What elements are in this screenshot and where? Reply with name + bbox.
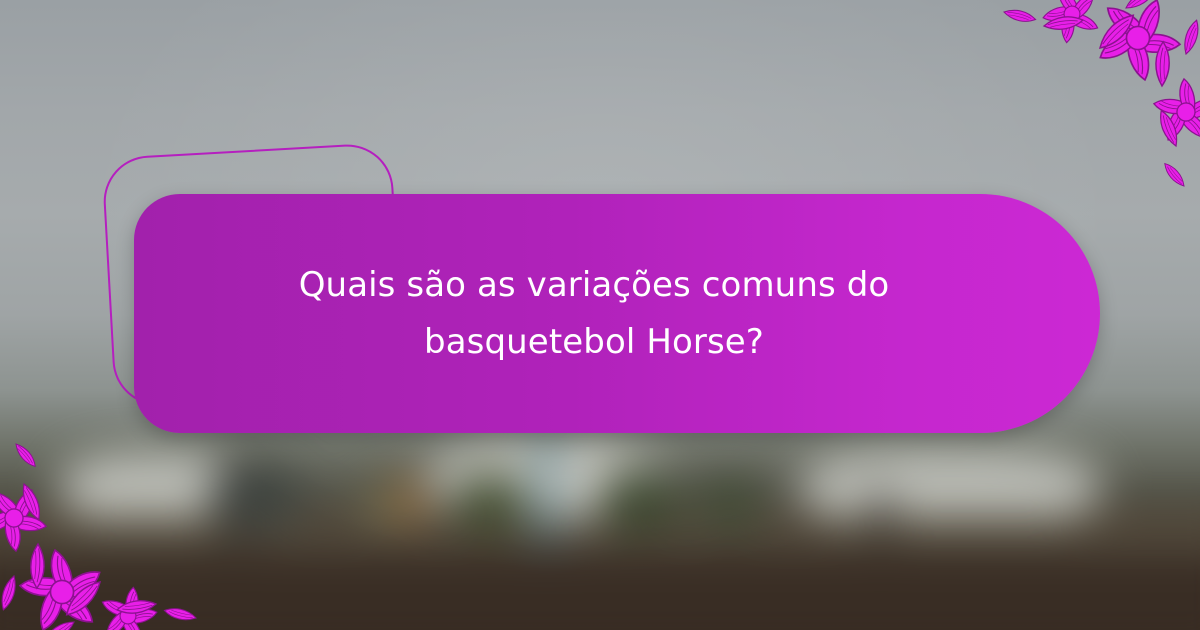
question-card: Quais são as variações comuns do basquet… <box>134 194 1100 433</box>
social-card-canvas: Quais são as variações comuns do basquet… <box>0 0 1200 630</box>
question-text: Quais são as variações comuns do basquet… <box>289 257 899 371</box>
